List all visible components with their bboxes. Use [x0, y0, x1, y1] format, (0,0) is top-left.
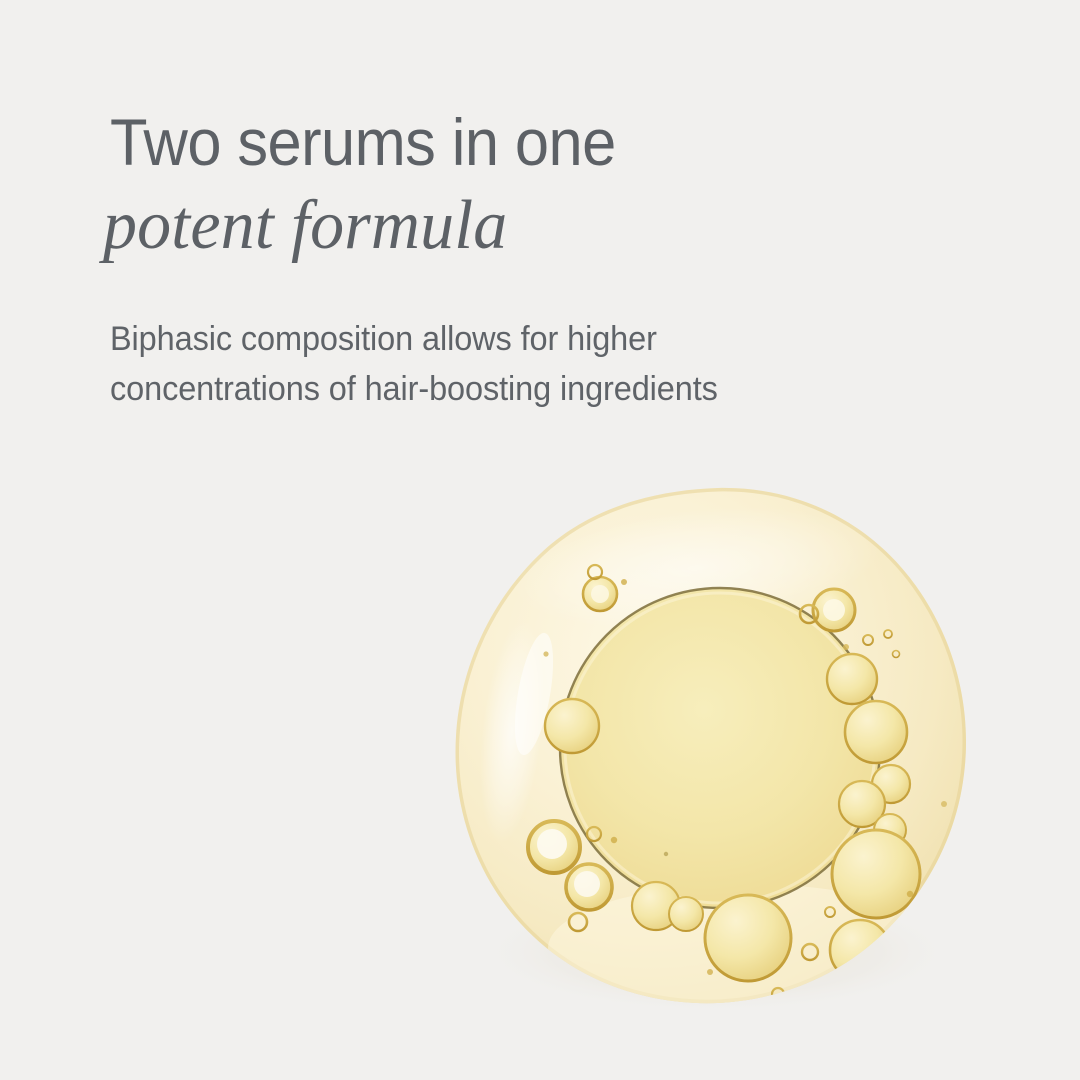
serum-droplet-image: [448, 482, 984, 1010]
serum-droplet-graphic: [448, 482, 984, 1010]
page-title: Two serums in one potent formula: [110, 104, 970, 268]
headline-line-2-italic: potent formula: [103, 184, 944, 268]
subtitle-line-1: Biphasic composition allows for higher: [110, 314, 893, 364]
droplet-speck: [664, 852, 668, 856]
headline-line-1: Two serums in one: [110, 104, 910, 180]
inner-oil-circle: [560, 588, 880, 908]
bubble-mid-left: [545, 699, 599, 753]
subtitle-line-2: concentrations of hair-boosting ingredie…: [110, 364, 893, 414]
marketing-slide: Two serums in one potent formula Biphasi…: [0, 0, 1080, 1080]
subtitle-text: Biphasic composition allows for higher c…: [110, 314, 893, 414]
